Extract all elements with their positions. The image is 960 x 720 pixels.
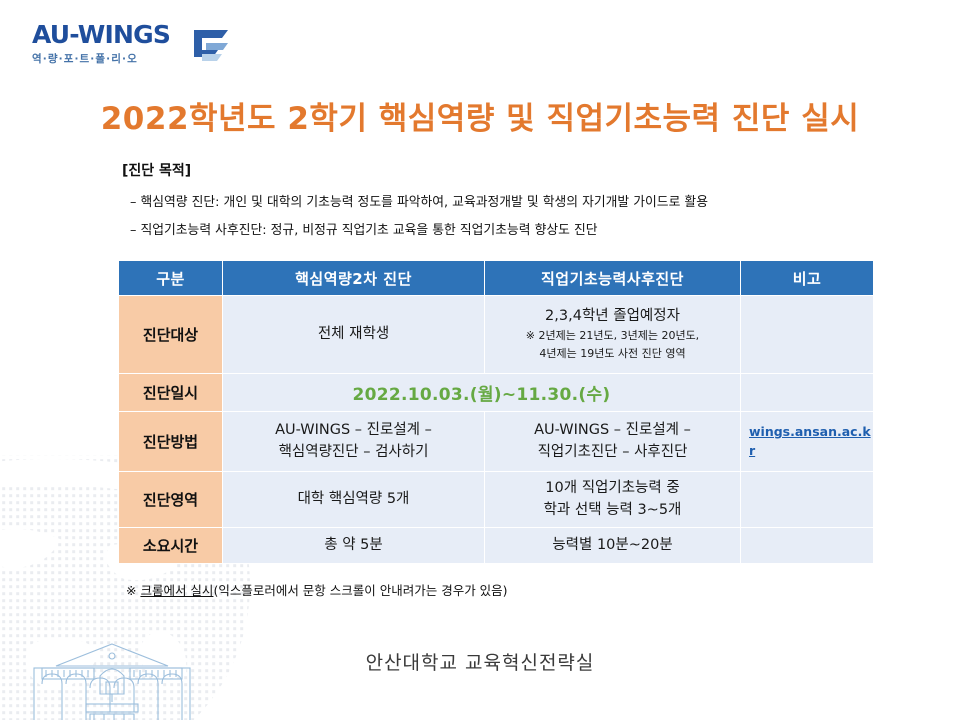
cell-scope-vocational-line-1: 10개 직업기초능력 중 [485, 478, 740, 500]
cell-target-vocational-note-2: 4년제는 19년도 사전 진단 영역 [485, 346, 740, 362]
cell-duration-core: 총 약 5분 [223, 528, 485, 564]
cell-scope-core: 대학 핵심역량 5개 [223, 472, 485, 528]
footnote-underlined: 크롬에서 실시 [140, 583, 213, 598]
wings-site-link[interactable]: wings.ansan.ac.kr [749, 423, 873, 459]
slide-canvas: AU-WINGS 역·량·포·트·폴·리·오 2022학년도 2학기 핵심역량 … [0, 0, 960, 720]
row-label-period: 진단일시 [119, 374, 223, 412]
cell-scope-remarks [741, 472, 874, 528]
cell-method-remarks: wings.ansan.ac.kr [741, 412, 874, 472]
table-row-method: 진단방법 AU-WINGS – 진로설계 – 핵심역량진단 – 검사하기 AU-… [119, 412, 874, 472]
purpose-line-1: – 핵심역량 진단: 개인 및 대학의 기초능력 정도를 파악하여, 교육과정개… [122, 191, 912, 210]
table-row-target: 진단대상 전체 재학생 2,3,4학년 졸업예정자 ※ 2년제는 21년도, 3… [119, 296, 874, 374]
cell-method-core-line-1: AU-WINGS – 진로설계 – [223, 420, 484, 442]
cell-target-vocational-main: 2,3,4학년 졸업예정자 [485, 307, 740, 327]
cell-target-vocational-note-1: ※ 2년제는 21년도, 3년제는 20년도, [485, 328, 740, 344]
table-header-row: 구분 핵심역량2차 진단 직업기초능력사후진단 비고 [119, 261, 874, 296]
table-header-division: 구분 [119, 261, 223, 296]
row-label-scope: 진단영역 [119, 472, 223, 528]
cell-period-remarks [741, 374, 874, 412]
purpose-line-2: – 직업기초능력 사후진단: 정규, 비정규 직업기초 교육을 통한 직업기초능… [122, 219, 912, 238]
row-label-target: 진단대상 [119, 296, 223, 374]
footer-organization: 안산대학교 교육혁신전략실 [0, 648, 960, 675]
footnote: ※ 크롬에서 실시(익스플로러에서 문항 스크롤이 안내려가는 경우가 있음) [126, 580, 508, 599]
cell-duration-remarks [741, 528, 874, 564]
table-header-remarks: 비고 [741, 261, 874, 296]
row-label-duration: 소요시간 [119, 528, 223, 564]
cell-target-vocational: 2,3,4학년 졸업예정자 ※ 2년제는 21년도, 3년제는 20년도, 4년… [485, 296, 741, 374]
page-title: 2022학년도 2학기 핵심역량 및 직업기초능력 진단 실시 [0, 93, 960, 138]
cell-period-range: 2022.10.03.(월)~11.30.(수) [223, 374, 741, 412]
table-row-duration: 소요시간 총 약 5분 능력별 10분~20분 [119, 528, 874, 564]
cell-scope-vocational-line-2: 학과 선택 능력 3~5개 [485, 500, 740, 522]
cell-target-remarks [741, 296, 874, 374]
cell-scope-vocational: 10개 직업기초능력 중 학과 선택 능력 3~5개 [485, 472, 741, 528]
cell-method-core-line-2: 핵심역량진단 – 검사하기 [223, 442, 484, 464]
diagnosis-info-table: 구분 핵심역량2차 진단 직업기초능력사후진단 비고 진단대상 전체 재학생 2… [118, 260, 874, 564]
table-header-vocational-basic: 직업기초능력사후진단 [485, 261, 741, 296]
table-row-scope: 진단영역 대학 핵심역량 5개 10개 직업기초능력 중 학과 선택 능력 3~… [119, 472, 874, 528]
cell-method-vocational-line-1: AU-WINGS – 진로설계 – [485, 420, 740, 442]
purpose-section: [진단 목적] – 핵심역량 진단: 개인 및 대학의 기초능력 정도를 파악하… [122, 160, 912, 247]
cell-target-core: 전체 재학생 [223, 296, 485, 374]
wing-mark-icon [188, 26, 232, 64]
cell-method-vocational-line-2: 직업기초진단 – 사후진단 [485, 442, 740, 464]
au-wings-logo: AU-WINGS 역·량·포·트·폴·리·오 [32, 22, 232, 74]
table-row-period: 진단일시 2022.10.03.(월)~11.30.(수) [119, 374, 874, 412]
row-label-method: 진단방법 [119, 412, 223, 472]
footnote-rest: (익스플로러에서 문항 스크롤이 안내려가는 경우가 있음) [213, 583, 507, 598]
cell-duration-vocational: 능력별 10분~20분 [485, 528, 741, 564]
purpose-heading: [진단 목적] [122, 160, 912, 180]
footnote-marker: ※ [126, 583, 140, 598]
table-header-core-competency: 핵심역량2차 진단 [223, 261, 485, 296]
cell-method-vocational: AU-WINGS – 진로설계 – 직업기초진단 – 사후진단 [485, 412, 741, 472]
cell-method-core: AU-WINGS – 진로설계 – 핵심역량진단 – 검사하기 [223, 412, 485, 472]
